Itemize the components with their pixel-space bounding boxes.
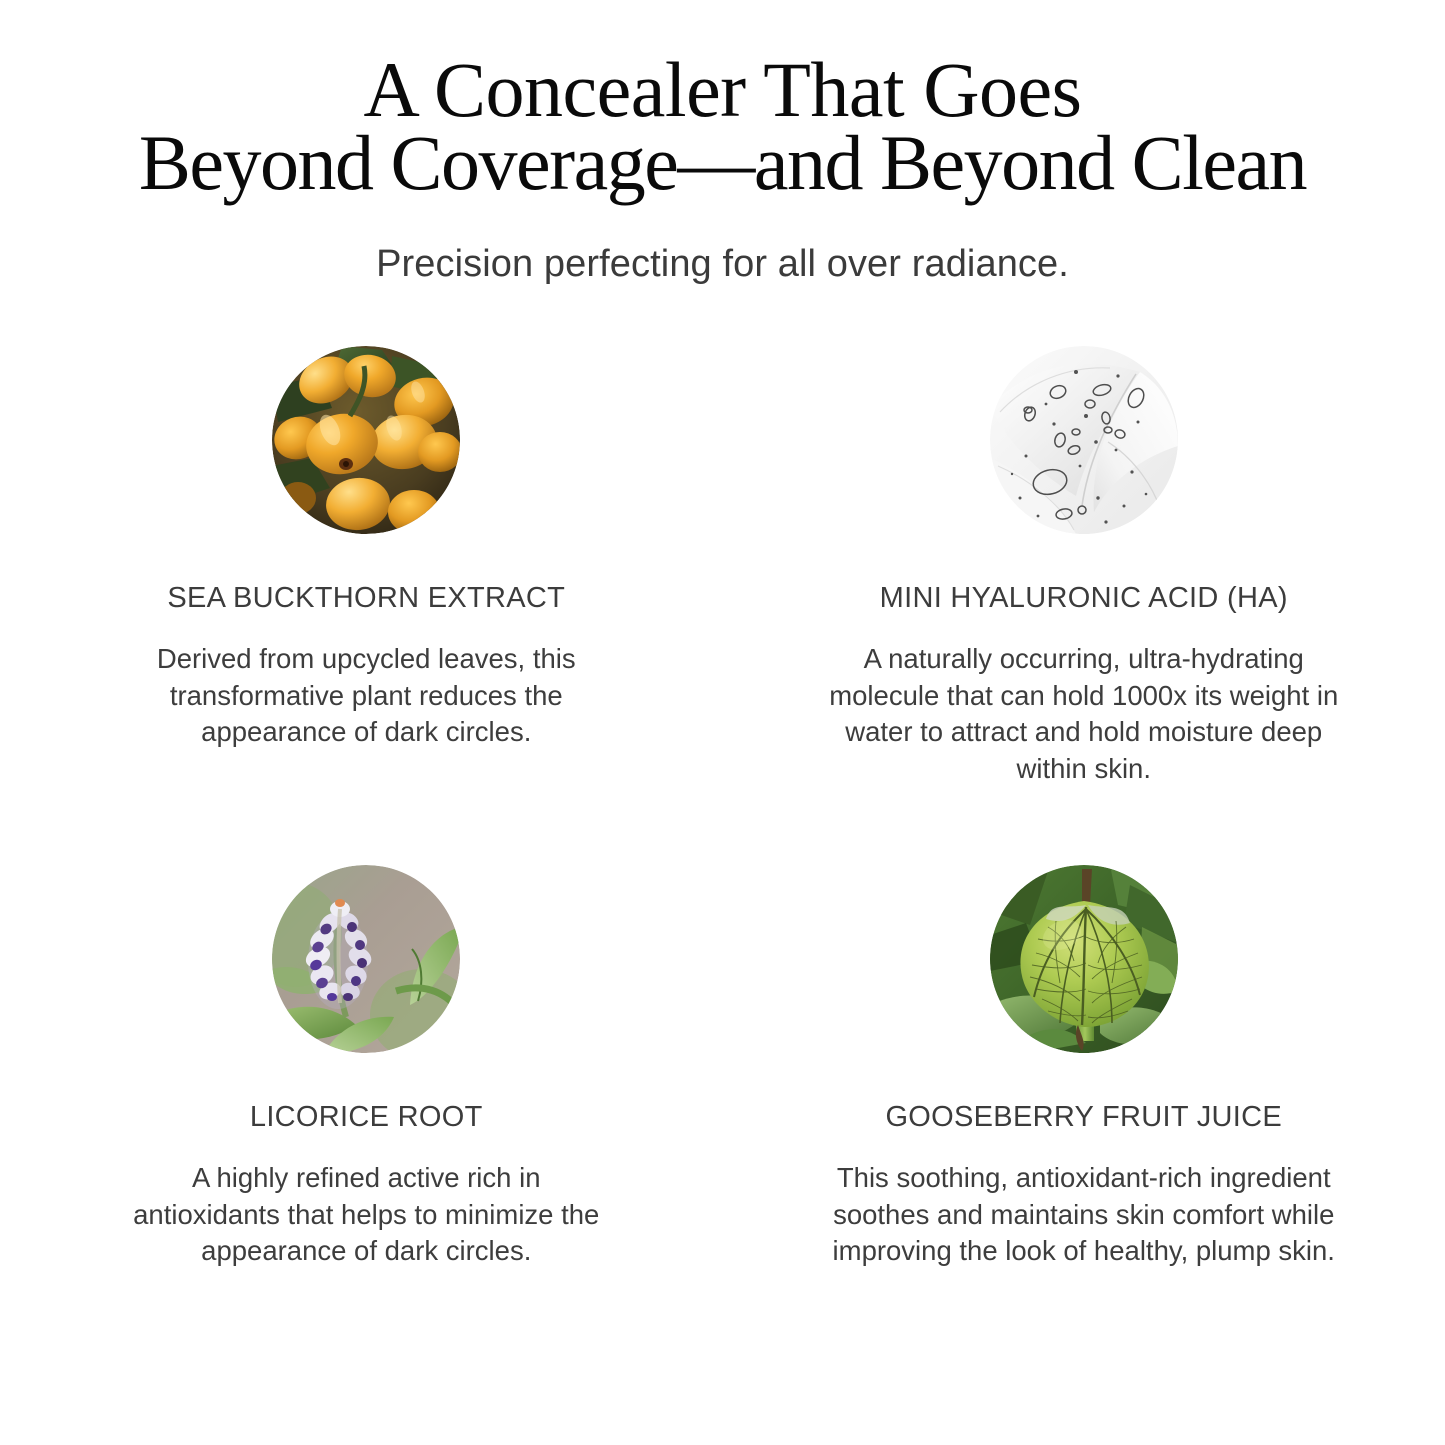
headline-line-2: Beyond Coverage—and Beyond Clean bbox=[40, 127, 1405, 200]
ingredient-title: LICORICE ROOT bbox=[250, 1101, 483, 1134]
page-title: A Concealer That GoesBeyond Coverage—and… bbox=[0, 54, 1445, 199]
ingredient-card-gooseberry: GOOSEBERRY FRUIT JUICE This soothing, an… bbox=[723, 865, 1445, 1270]
thumbnail-wrapper bbox=[272, 346, 460, 534]
ingredient-card-licorice-root: LICORICE ROOT A highly refined active ri… bbox=[0, 865, 723, 1270]
header-section: A Concealer That GoesBeyond Coverage—and… bbox=[0, 0, 1445, 286]
licorice-root-flower-photo bbox=[272, 865, 460, 1053]
ingredient-description: A highly refined active rich in antioxid… bbox=[131, 1160, 601, 1270]
thumbnail-wrapper bbox=[272, 865, 460, 1053]
ingredient-description: Derived from upcycled leaves, this trans… bbox=[131, 641, 601, 751]
ingredient-title: GOOSEBERRY FRUIT JUICE bbox=[885, 1101, 1282, 1134]
thumbnail-wrapper bbox=[990, 346, 1178, 534]
ingredient-benefits-infographic: A Concealer That GoesBeyond Coverage—and… bbox=[0, 0, 1445, 1445]
ingredient-card-sea-buckthorn: SEA BUCKTHORN EXTRACT Derived from upcyc… bbox=[0, 346, 723, 787]
ingredient-card-hyaluronic-acid: MINI HYALURONIC ACID (HA) A naturally oc… bbox=[723, 346, 1445, 787]
ingredient-description: A naturally occurring, ultra-hydrating m… bbox=[824, 641, 1344, 787]
ingredient-title: SEA BUCKTHORN EXTRACT bbox=[167, 582, 565, 615]
page-subtitle: Precision perfecting for all over radian… bbox=[0, 199, 1445, 286]
thumbnail-wrapper bbox=[990, 865, 1178, 1053]
sea-buckthorn-berries-photo bbox=[272, 346, 460, 534]
hyaluronic-acid-gel-texture-photo bbox=[990, 346, 1178, 534]
ingredient-description: This soothing, antioxidant-rich ingredie… bbox=[814, 1160, 1354, 1270]
ingredient-title: MINI HYALURONIC ACID (HA) bbox=[880, 582, 1288, 615]
ingredient-grid: SEA BUCKTHORN EXTRACT Derived from upcyc… bbox=[0, 346, 1445, 1270]
gooseberry-fruit-photo bbox=[990, 865, 1178, 1053]
